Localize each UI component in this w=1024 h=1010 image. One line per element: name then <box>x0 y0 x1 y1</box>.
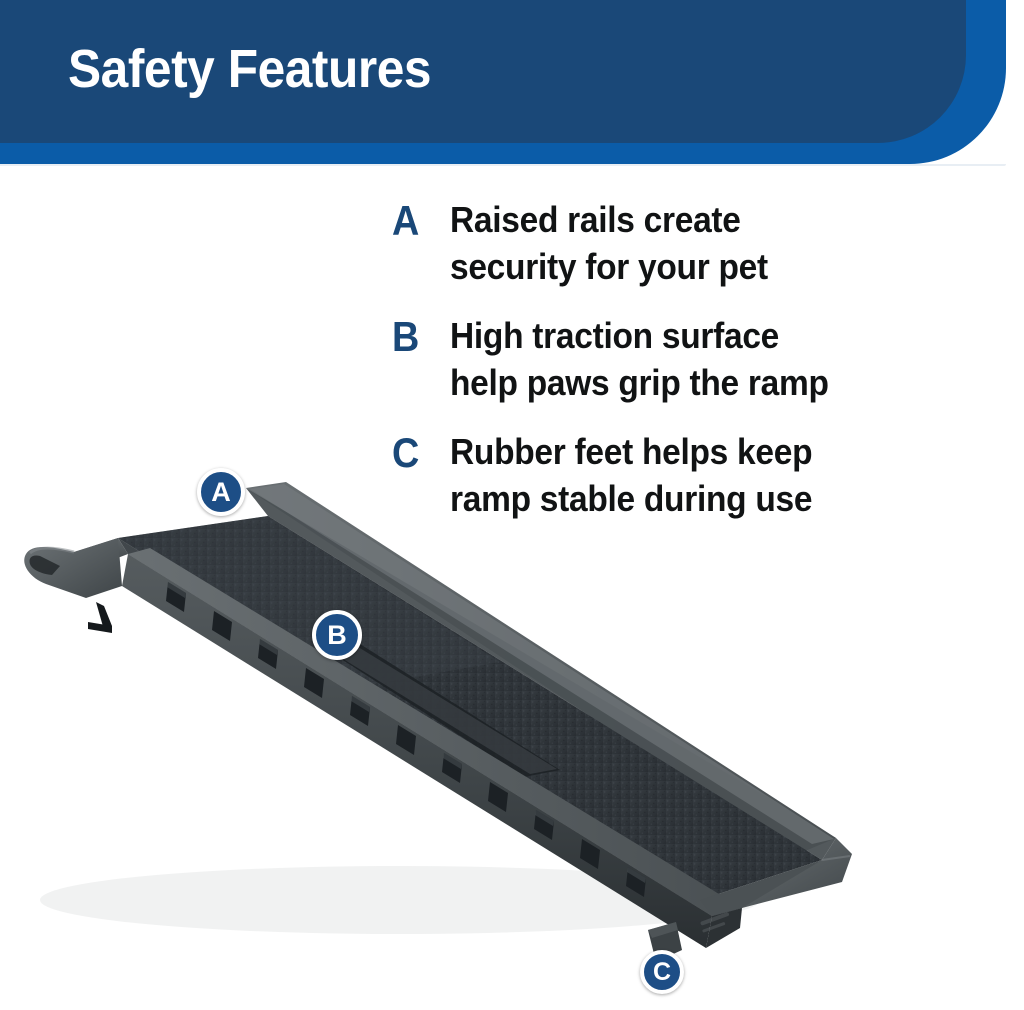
ramp-latch-hardware <box>88 602 112 633</box>
header-hairline <box>0 164 1006 166</box>
feature-text-a-line2: security for your pet <box>450 243 954 290</box>
feature-text-b-line2: help paws grip the ramp <box>450 359 954 406</box>
header-banner: Safety Features <box>0 0 1024 170</box>
callout-badge-b[interactable]: B <box>312 610 362 660</box>
feature-text-b: High traction surface help paws grip the… <box>450 312 954 406</box>
feature-item-a: A Raised rails create security for your … <box>392 196 992 290</box>
callout-badge-c[interactable]: C <box>640 950 684 994</box>
feature-text-a-line1: Raised rails create <box>450 196 954 243</box>
callout-badge-a[interactable]: A <box>197 468 245 516</box>
feature-item-b: B High traction surface help paws grip t… <box>392 312 992 406</box>
feature-text-b-line1: High traction surface <box>450 312 954 359</box>
feature-letter-b: B <box>392 312 444 362</box>
product-image-pet-ramp <box>0 430 860 1010</box>
page-title: Safety Features <box>68 38 431 100</box>
feature-letter-a: A <box>392 196 444 246</box>
ramp-top-end-hook <box>24 538 122 598</box>
infographic-page: Safety Features A Raised rails create se… <box>0 0 1024 1010</box>
feature-text-a: Raised rails create security for your pe… <box>450 196 954 290</box>
